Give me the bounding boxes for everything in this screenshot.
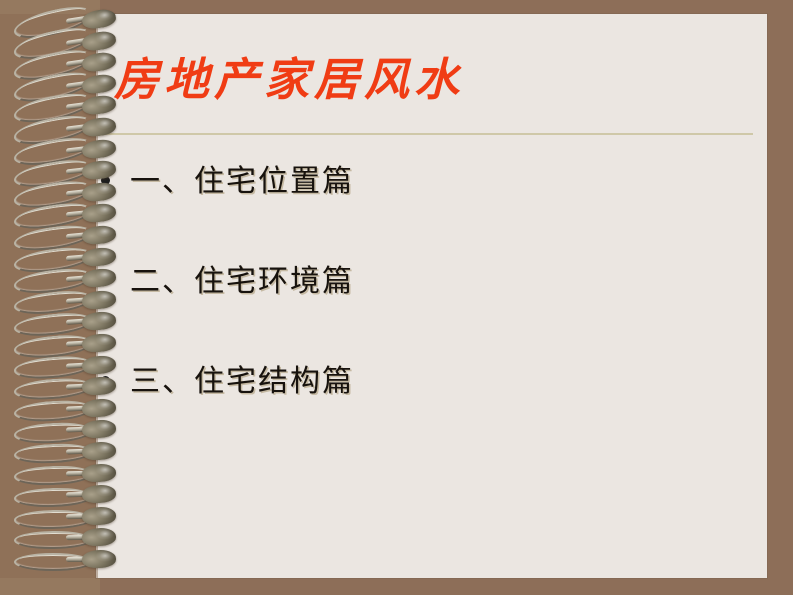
presentation-slide: 房地产家居风水 一、住宅位置篇 二、住宅环境篇 三、住宅结构篇 bbox=[0, 0, 793, 595]
list-item-label: 一、住宅位置篇 bbox=[130, 156, 354, 200]
list-item: 三、住宅结构篇 bbox=[96, 356, 756, 456]
bullet-dot-icon bbox=[101, 376, 110, 385]
notebook-spine-band bbox=[0, 14, 96, 578]
bullet-dot-icon bbox=[101, 176, 110, 185]
bullet-list: 一、住宅位置篇 二、住宅环境篇 三、住宅结构篇 bbox=[96, 156, 756, 456]
notebook-page: 房地产家居风水 一、住宅位置篇 二、住宅环境篇 三、住宅结构篇 bbox=[96, 14, 767, 578]
slide-title: 房地产家居风水 bbox=[114, 56, 754, 103]
list-item: 一、住宅位置篇 bbox=[96, 156, 756, 256]
background-patch-top-left bbox=[0, 0, 100, 14]
list-item-label: 二、住宅环境篇 bbox=[130, 256, 354, 300]
title-divider-rule bbox=[96, 133, 753, 135]
list-item-label: 三、住宅结构篇 bbox=[130, 356, 354, 400]
background-patch-bottom-left bbox=[0, 578, 100, 595]
bullet-dot-icon bbox=[101, 276, 110, 285]
list-item: 二、住宅环境篇 bbox=[96, 256, 756, 356]
